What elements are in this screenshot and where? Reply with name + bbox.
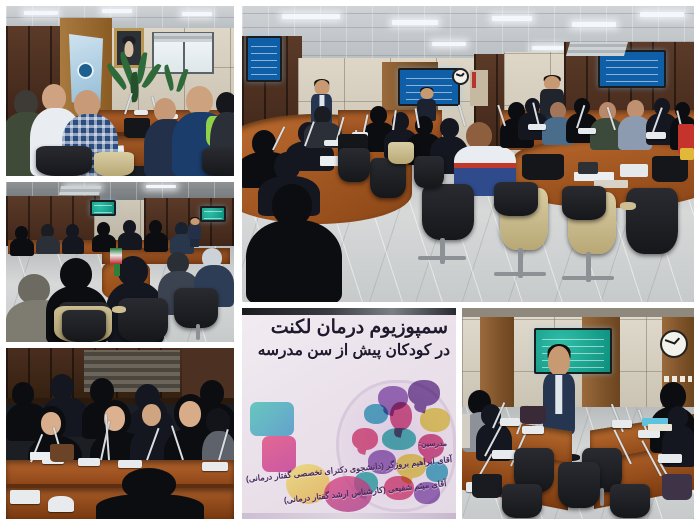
- desk-telephone: [620, 164, 648, 177]
- poster-instructors-label: مدرسین:: [419, 439, 447, 448]
- wall-clock-round: [660, 330, 688, 358]
- photo-top-left: [6, 6, 234, 176]
- photo-middle-left: [6, 182, 234, 342]
- poster-bottom-edge: [242, 513, 456, 519]
- wall-clock: [452, 68, 469, 85]
- poster-title-line-2: در کودکان پیش از سن مدرسه: [258, 341, 450, 360]
- projection-screen-left: [246, 36, 282, 82]
- photo-collage: سمپوزیوم درمان لکنت در کودکان پیش از سن …: [0, 0, 700, 525]
- poster-title-line-1: سمپوزیوم درمان لکنت: [271, 316, 448, 339]
- presentation-slide: [534, 328, 612, 374]
- presentation-screen-left: [90, 200, 116, 216]
- presentation-screen-right: [200, 206, 226, 222]
- photo-poster: سمپوزیوم درمان لکنت در کودکان پیش از سن …: [242, 308, 456, 519]
- photo-bottom-right: [462, 308, 694, 519]
- photo-bottom-left: [6, 348, 234, 519]
- poster-top-shadow: [242, 308, 456, 315]
- poster-shape-teal: [250, 402, 294, 436]
- photo-main-top-right: [242, 6, 694, 302]
- poster-shape-pink: [262, 436, 296, 472]
